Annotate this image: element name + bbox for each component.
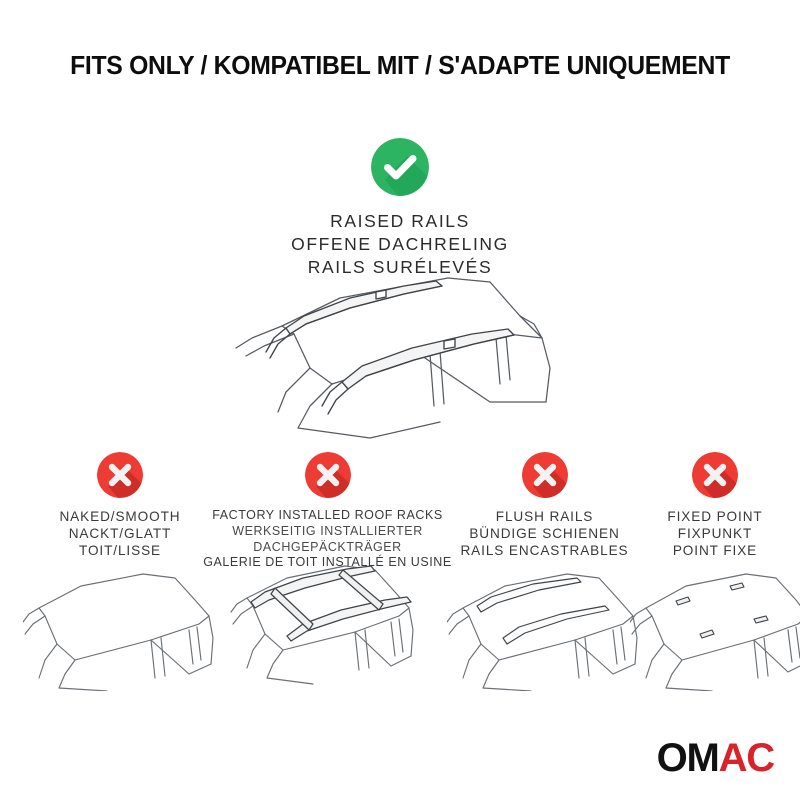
label-line-en: FACTORY INSTALLED ROOF RACKS — [200, 508, 455, 524]
incompatible-section: NAKED/SMOOTH NACKT/GLATT TOIT/LISSE — [0, 452, 800, 702]
x-circle-icon — [305, 452, 351, 498]
incompatible-item-flush-rails: FLUSH RAILS BÜNDIGE SCHIENEN RAILS ENCAS… — [442, 452, 647, 559]
label-line-de-1: WERKSEITIG INSTALLIERTER — [200, 524, 455, 540]
check-circle-icon — [371, 138, 429, 196]
compatible-label-en: RAISED RAILS — [0, 210, 800, 233]
incompatible-item-factory-racks: FACTORY INSTALLED ROOF RACKS WERKSEITIG … — [200, 452, 455, 571]
header: FITS ONLY / KOMPATIBEL MIT / S'ADAPTE UN… — [0, 52, 800, 81]
logo-text-om: OM — [657, 738, 719, 778]
label-line-en: FLUSH RAILS — [442, 508, 647, 525]
incompatible-item-fixed-point: FIXED POINT FIXPUNKT POINT FIXE — [630, 452, 800, 559]
label-stack: FLUSH RAILS BÜNDIGE SCHIENEN RAILS ENCAS… — [442, 508, 647, 559]
logo-text-ac: AC — [719, 738, 774, 778]
compatible-label-de: OFFENE DACHRELING — [0, 233, 800, 256]
x-circle-icon — [97, 452, 143, 498]
label-line-de: FIXPUNKT — [630, 525, 800, 542]
car-roof-fixed-point-illustration — [630, 556, 800, 691]
label-line-de: BÜNDIGE SCHIENEN — [442, 525, 647, 542]
compatible-section: RAISED RAILS OFFENE DACHRELING RAILS SUR… — [0, 138, 800, 278]
car-roof-factory-racks-illustration — [200, 550, 455, 690]
car-roof-flush-rails-illustration — [442, 556, 647, 691]
label-line-en: FIXED POINT — [630, 508, 800, 525]
x-circle-icon — [522, 452, 568, 498]
label-stack: FIXED POINT FIXPUNKT POINT FIXE — [630, 508, 800, 559]
omac-logo: OMAC — [657, 738, 774, 778]
car-roof-raised-rails-illustration — [190, 272, 610, 452]
x-circle-icon — [692, 452, 738, 498]
compatible-label-stack: RAISED RAILS OFFENE DACHRELING RAILS SUR… — [0, 210, 800, 278]
page-title: FITS ONLY / KOMPATIBEL MIT / S'ADAPTE UN… — [12, 52, 788, 81]
